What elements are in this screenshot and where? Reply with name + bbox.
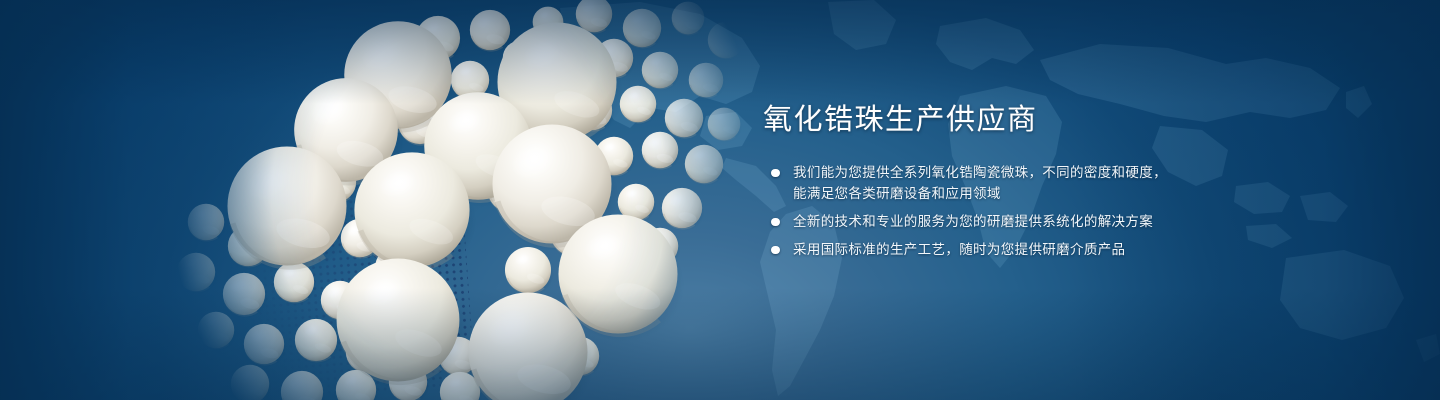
banner-bullet-item: 采用国际标准的生产工艺，随时为您提供研磨介质产品 — [763, 239, 1233, 260]
bullet-dot-icon — [771, 169, 780, 178]
bullet-line: 我们能为您提供全系列氧化锆陶瓷微珠，不同的密度和硬度， — [793, 162, 1233, 183]
banner-bullet-item: 全新的技术和专业的服务为您的研磨提供系统化的解决方案 — [763, 211, 1233, 232]
bullet-line: 全新的技术和专业的服务为您的研磨提供系统化的解决方案 — [793, 211, 1233, 232]
bullet-line: 能满足您各类研磨设备和应用领域 — [793, 183, 1233, 204]
banner-copy: 氧化锆珠生产供应商 我们能为您提供全系列氧化锆陶瓷微珠，不同的密度和硬度， 能满… — [763, 104, 1233, 260]
bullet-line: 采用国际标准的生产工艺，随时为您提供研磨介质产品 — [793, 239, 1233, 260]
bullet-dot-icon — [771, 246, 780, 255]
bullet-dot-icon — [771, 218, 780, 227]
promo-banner: 氧化锆珠生产供应商 我们能为您提供全系列氧化锆陶瓷微珠，不同的密度和硬度， 能满… — [0, 0, 1440, 400]
banner-bullet-list: 我们能为您提供全系列氧化锆陶瓷微珠，不同的密度和硬度， 能满足您各类研磨设备和应… — [763, 162, 1233, 260]
banner-title: 氧化锆珠生产供应商 — [763, 104, 1233, 137]
banner-bullet-item: 我们能为您提供全系列氧化锆陶瓷微珠，不同的密度和硬度， 能满足您各类研磨设备和应… — [763, 162, 1233, 204]
